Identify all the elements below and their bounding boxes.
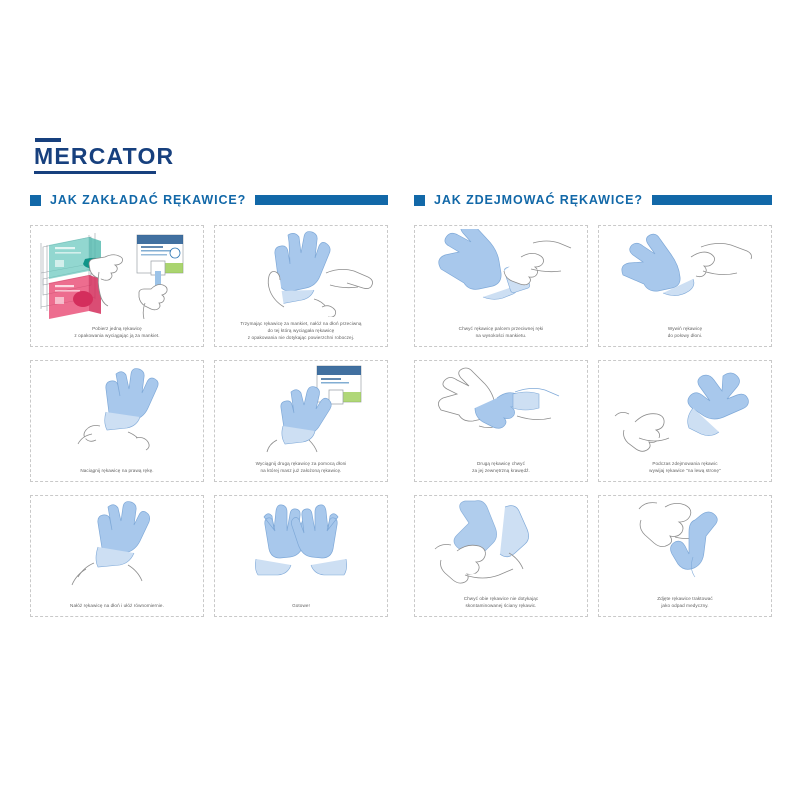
turn-glove-inside-out-illustration xyxy=(599,361,771,455)
section-title: JAK ZDEJMOWAĆ RĘKAWICE? xyxy=(434,193,643,207)
dispose-medical-waste-illustration xyxy=(599,496,771,590)
step-grid-putting-on: Pobierz jedną rękawicęz opakowania wycią… xyxy=(30,225,388,617)
step-caption: Podczas zdejmowania rękawicwywijaj rękaw… xyxy=(603,460,767,481)
step-card: Pobierz jedną rękawicęz opakowania wycią… xyxy=(30,225,204,347)
step-caption: Chwyć obie rękawice nie dotykającskontam… xyxy=(419,595,583,616)
step-card: Wyciągnij drugą rękawicę za pomocą dłoni… xyxy=(214,360,388,482)
section-putting-on: JAK ZAKŁADAĆ RĘKAWICE? xyxy=(30,190,388,617)
step-caption: Gotowe! xyxy=(219,602,383,616)
step-caption: Chwyć rękawicę palcem przeciwnej rękina … xyxy=(419,325,583,346)
bullet-square-icon xyxy=(414,195,425,206)
step-caption: Zdjęte rękawice traktowaćjako odpad medy… xyxy=(603,595,767,616)
logo-wordmark: MERCATOR xyxy=(34,145,174,168)
step-card: Nałóż rękawicę na dłoń i ułóż równomiern… xyxy=(30,495,204,617)
section-taking-off: JAK ZDEJMOWAĆ RĘKAWICE? xyxy=(414,190,772,617)
step-grid-taking-off: Chwyć rękawicę palcem przeciwnej rękina … xyxy=(414,225,772,617)
step-caption: Drugą rękawicę chwyćza jej zewnętrzną kr… xyxy=(419,460,583,481)
pull-glove-right-hand-illustration xyxy=(31,361,203,455)
step-card: Drugą rękawicę chwyćza jej zewnętrzną kr… xyxy=(414,360,588,482)
section-header-taking-off: JAK ZDEJMOWAĆ RĘKAWICE? xyxy=(414,190,772,210)
glove-pull-onto-hand-illustration xyxy=(215,226,387,320)
two-gloved-hands-illustration xyxy=(215,496,387,590)
grip-glove-at-cuff-illustration xyxy=(415,226,587,320)
step-card: Gotowe! xyxy=(214,495,388,617)
step-card: Chwyć rękawicę palcem przeciwnej rękina … xyxy=(414,225,588,347)
take-second-glove-from-box-illustration xyxy=(215,361,387,455)
step-card: Chwyć obie rękawice nie dotykającskontam… xyxy=(414,495,588,617)
step-caption: Wyciągnij drugą rękawicę za pomocą dłoni… xyxy=(219,460,383,481)
step-caption: Nałóż rękawicę na dłoń i ułóż równomiern… xyxy=(35,602,199,616)
step-caption: Naciągnij rękawicę na prawą rękę. xyxy=(35,467,199,481)
step-card: Naciągnij rękawicę na prawą rękę. xyxy=(30,360,204,482)
section-header-putting-on: JAK ZAKŁADAĆ RĘKAWICE? xyxy=(30,190,388,210)
step-card: Zdjęte rękawice traktowaćjako odpad medy… xyxy=(598,495,772,617)
grip-second-glove-edge-illustration xyxy=(415,361,587,455)
header-rule xyxy=(652,195,772,205)
header-rule xyxy=(255,195,388,205)
step-caption: Wywiń rękawicędo połowy dłoni. xyxy=(603,325,767,346)
dispenser-boxes-hand-illustration xyxy=(31,226,203,320)
poster-root: MERCATOR JAK ZAKŁADAĆ RĘKAWICE? xyxy=(0,0,800,800)
step-caption: Pobierz jedną rękawicęz opakowania wycią… xyxy=(35,325,199,346)
step-card: Podczas zdejmowania rękawicwywijaj rękaw… xyxy=(598,360,772,482)
step-card: Trzymając rękawicę za mankiet, nałóż na … xyxy=(214,225,388,347)
step-card: Wywiń rękawicędo połowy dłoni. xyxy=(598,225,772,347)
logo-top-bar xyxy=(35,138,61,142)
fit-glove-evenly-illustration xyxy=(31,496,203,590)
bullet-square-icon xyxy=(30,195,41,206)
step-caption: Trzymając rękawicę za mankiet, nałóż na … xyxy=(219,320,383,346)
section-title: JAK ZAKŁADAĆ RĘKAWICE? xyxy=(50,193,246,207)
mercator-logo: MERCATOR xyxy=(34,138,174,174)
hold-both-gloves-illustration xyxy=(415,496,587,590)
logo-underline xyxy=(34,171,156,174)
roll-glove-halfway-illustration xyxy=(599,226,771,320)
